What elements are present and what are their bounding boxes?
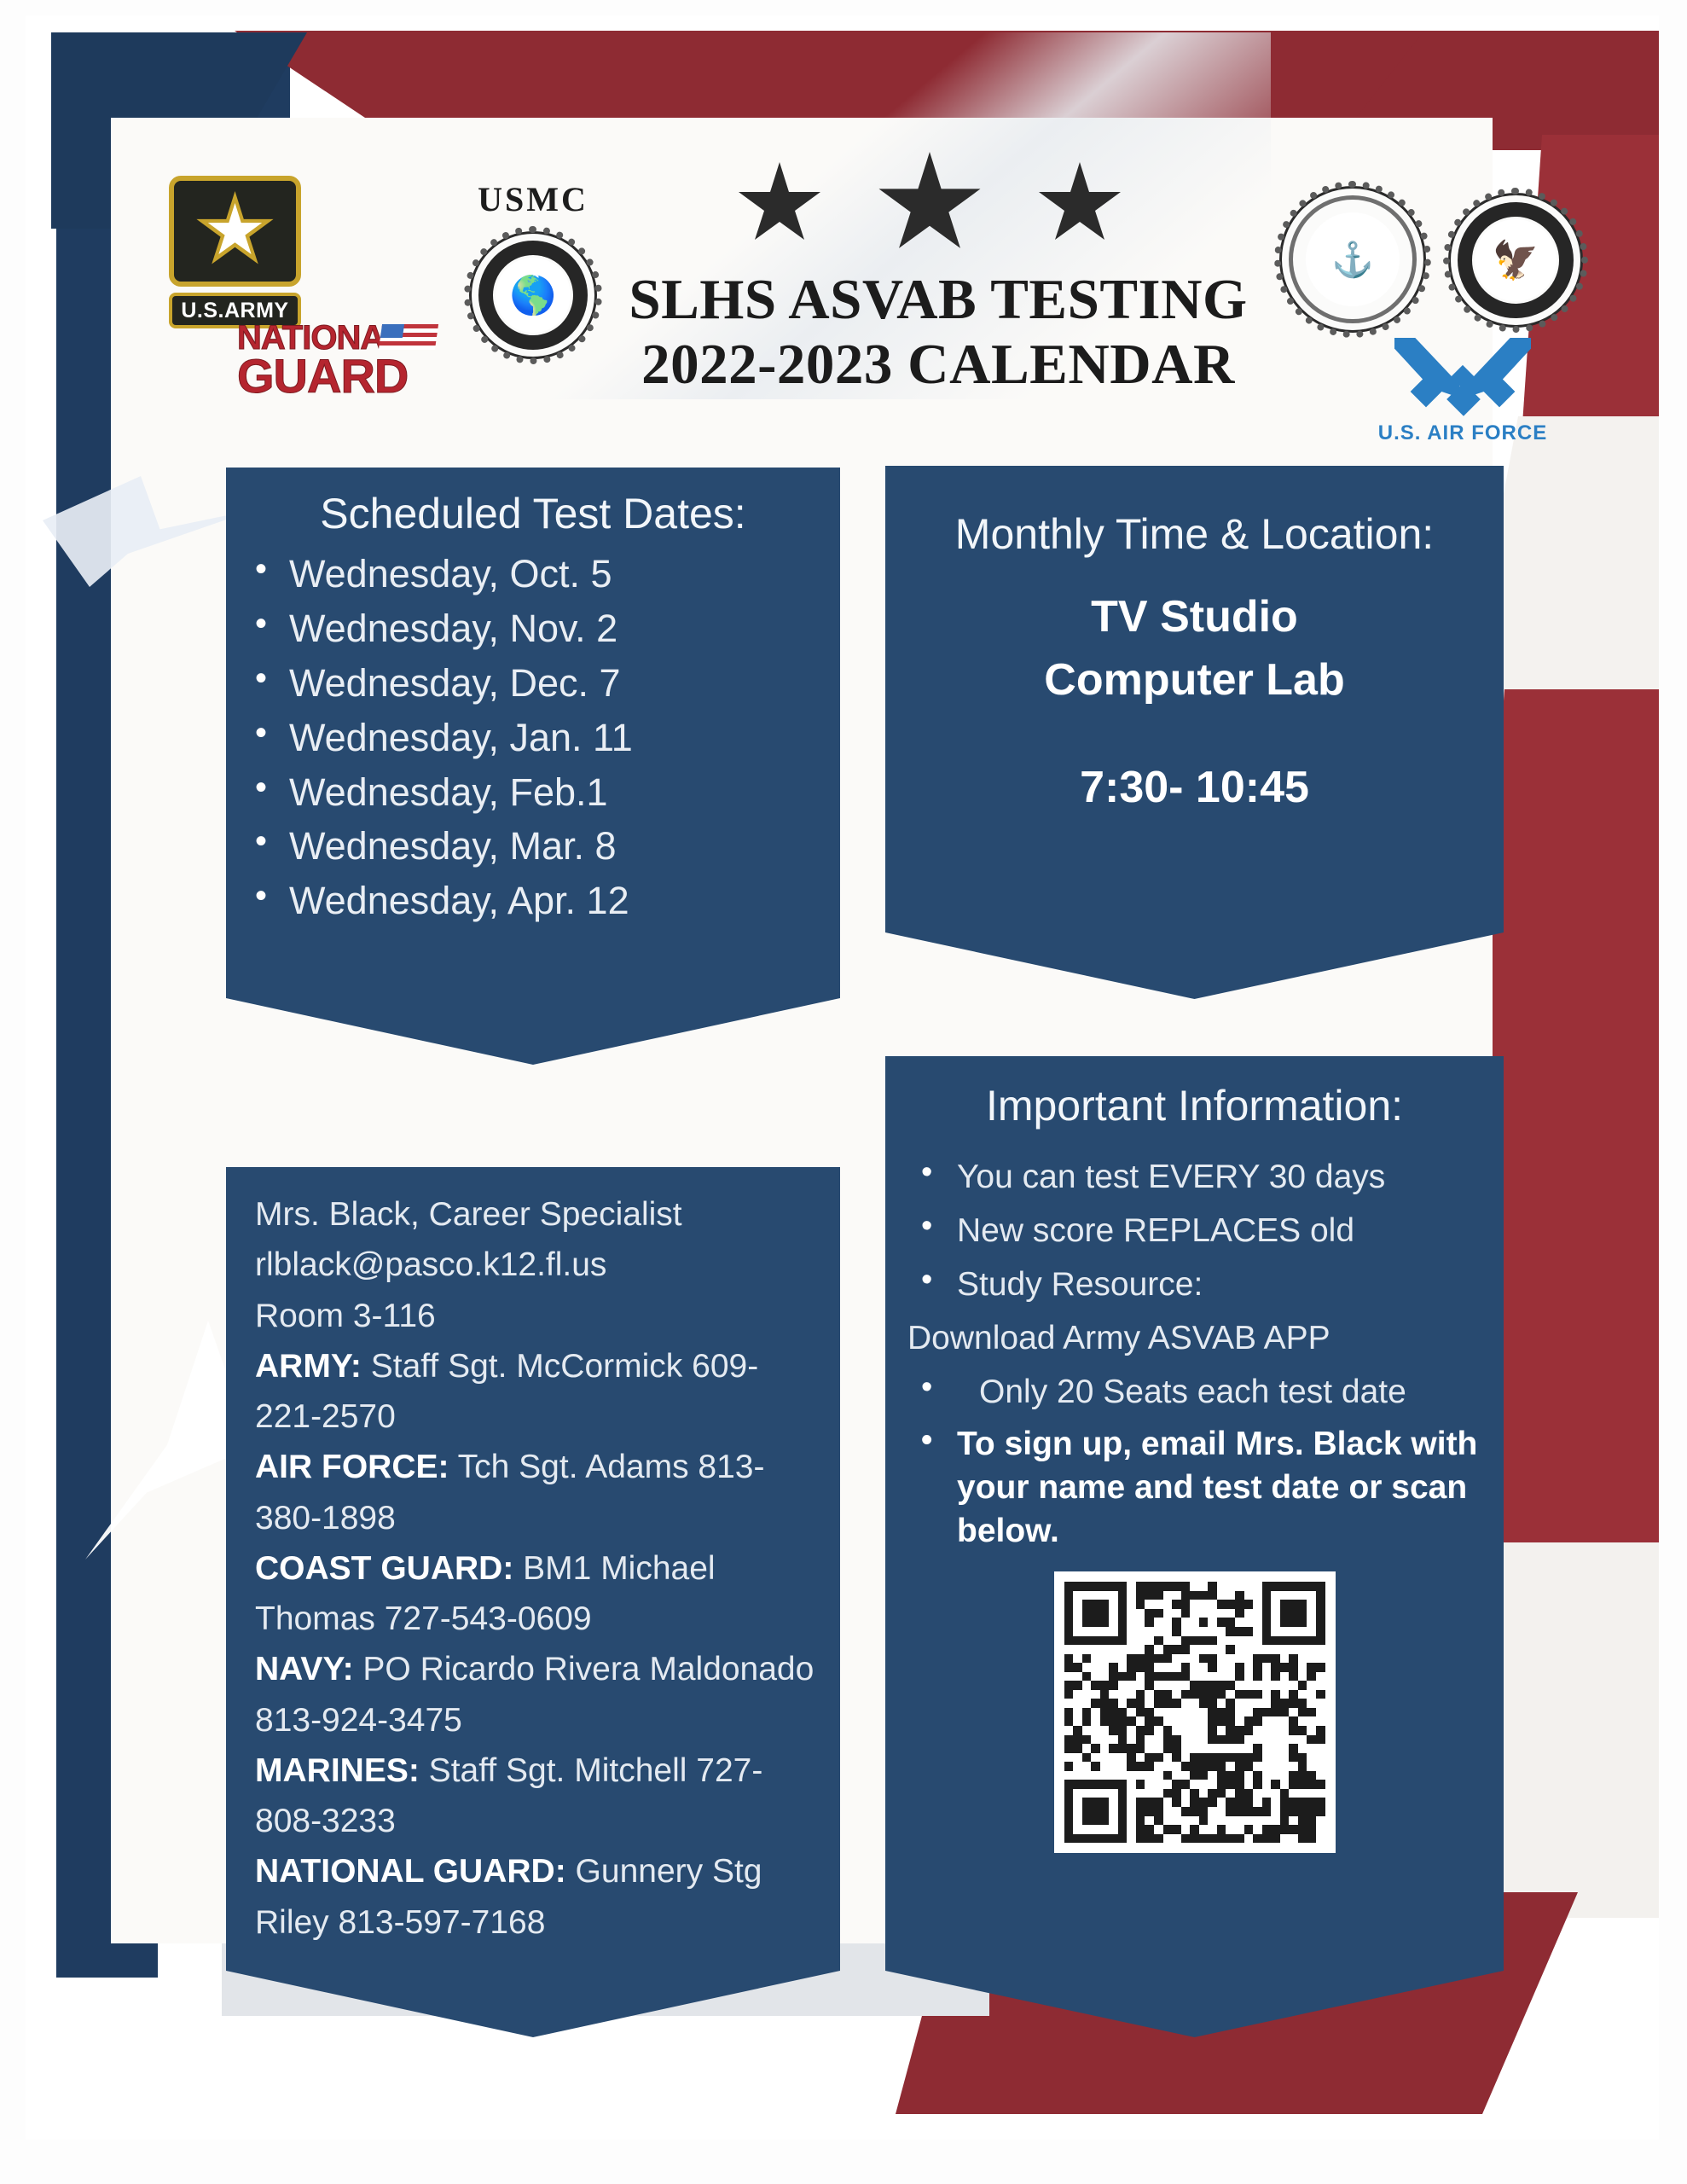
list-item: Wednesday, Feb.1: [289, 765, 832, 820]
testing-hours: 7:30- 10:45: [885, 762, 1504, 813]
list-item: Wednesday, Jan. 11: [289, 711, 832, 765]
list-item: Wednesday, Oct. 5: [289, 547, 832, 601]
contact-info-panel: Mrs. Black, Career Specialist rlblack@pa…: [226, 1167, 840, 2037]
list-item: Wednesday, Nov. 2: [289, 601, 832, 656]
contact-national-guard: NATIONAL GUARD: Gunnery Stg Riley 813-59…: [255, 1846, 816, 1948]
list-item: New score REPLACES old: [957, 1208, 1487, 1253]
contact-coast-guard: COAST GUARD: BM1 Michael Thomas 727-543-…: [255, 1543, 816, 1645]
contact-air-force: AIR FORCE: Tch Sgt. Adams 813-380-1898: [255, 1442, 816, 1543]
contact-marines-label: MARINES:: [255, 1752, 420, 1789]
scheduled-test-dates-panel: Scheduled Test Dates: Wednesday, Oct. 5 …: [226, 468, 840, 1065]
star-icon-left: [737, 162, 822, 247]
star-icon-right: [1037, 162, 1122, 247]
list-item: Wednesday, Dec. 7: [289, 656, 832, 711]
flyer-page: U.S.ARMY NATIONAL GUARD USMC 🌎: [0, 0, 1687, 2184]
list-item: Wednesday, Mar. 8: [289, 819, 832, 874]
contact-coast-guard-label: COAST GUARD:: [255, 1550, 513, 1587]
monthly-time-location-title: Monthly Time & Location:: [885, 466, 1504, 561]
contact-army: ARMY: Staff Sgt. McCormick 609-221-2570: [255, 1341, 816, 1443]
list-item: Wednesday, Apr. 12: [289, 874, 832, 928]
us-flag-icon: [379, 324, 438, 350]
career-specialist-room: Room 3-116: [255, 1291, 816, 1341]
location-line-1: TV Studio: [885, 586, 1504, 649]
list-item: Download Army ASVAB APP: [907, 1316, 1487, 1361]
star-icon-center: [877, 152, 983, 258]
career-specialist-name: Mrs. Black, Career Specialist: [255, 1189, 816, 1240]
national-guard-line2: GUARD: [237, 354, 433, 398]
location-text: TV Studio Computer Lab: [885, 586, 1504, 712]
usmc-label: USMC: [448, 179, 618, 219]
national-guard-logo: NATIONAL GUARD: [237, 322, 433, 398]
page-title: SLHS ASVAB TESTING 2022-2023 CALENDAR: [588, 267, 1288, 398]
navy-logo: 🦅: [1448, 193, 1583, 328]
air-force-wings-icon: [1394, 338, 1531, 409]
army-star-icon: [169, 176, 301, 287]
important-information-list: You can test EVERY 30 days New score REP…: [885, 1154, 1504, 1553]
contact-army-label: ARMY:: [255, 1348, 362, 1385]
navy-seal-icon: 🦅: [1448, 193, 1583, 328]
army-logo: U.S.ARMY: [169, 176, 301, 328]
contact-marines: MARINES: Staff Sgt. Mitchell 727-808-323…: [255, 1745, 816, 1847]
contact-navy-label: NAVY:: [255, 1651, 354, 1687]
signup-qr-code[interactable]: [1054, 1571, 1336, 1853]
contact-national-guard-label: NATIONAL GUARD:: [255, 1853, 566, 1890]
list-item: You can test EVERY 30 days: [957, 1154, 1487, 1199]
test-dates-list: Wednesday, Oct. 5 Wednesday, Nov. 2 Wedn…: [226, 547, 840, 928]
list-item: Study Resource:: [957, 1262, 1487, 1307]
header-stars: [691, 162, 1168, 258]
air-force-label: U.S. AIR FORCE: [1365, 421, 1561, 445]
coast-guard-logo: ⚓: [1279, 186, 1426, 333]
contact-navy: NAVY: PO Ricardo Rivera Maldonado 813-92…: [255, 1644, 816, 1745]
list-item: To sign up, email Mrs. Black with your n…: [957, 1423, 1487, 1553]
important-information-title: Important Information:: [885, 1056, 1504, 1132]
list-item: Only 20 Seats each test date: [957, 1369, 1487, 1414]
air-force-logo: U.S. AIR FORCE: [1365, 338, 1561, 445]
scanned-sheet: U.S.ARMY NATIONAL GUARD USMC 🌎: [26, 15, 1659, 2140]
title-line-1: SLHS ASVAB TESTING: [588, 267, 1288, 332]
title-line-2: 2022-2023 CALENDAR: [588, 332, 1288, 397]
monthly-time-location-panel: Monthly Time & Location: TV Studio Compu…: [885, 466, 1504, 999]
location-line-2: Computer Lab: [885, 649, 1504, 712]
coast-guard-seal-icon: ⚓: [1279, 186, 1426, 333]
flyer-header: U.S.ARMY NATIONAL GUARD USMC 🌎: [111, 118, 1561, 459]
contact-air-force-label: AIR FORCE:: [255, 1449, 449, 1485]
important-information-panel: Important Information: You can test EVER…: [885, 1056, 1504, 2037]
scheduled-test-dates-title: Scheduled Test Dates:: [226, 468, 840, 543]
qr-code-container[interactable]: [885, 1571, 1504, 1853]
contact-details: Mrs. Black, Career Specialist rlblack@pa…: [226, 1167, 840, 1948]
career-specialist-email: rlblack@pasco.k12.fl.us: [255, 1240, 816, 1290]
usmc-seal-icon: 🌎: [469, 231, 597, 359]
